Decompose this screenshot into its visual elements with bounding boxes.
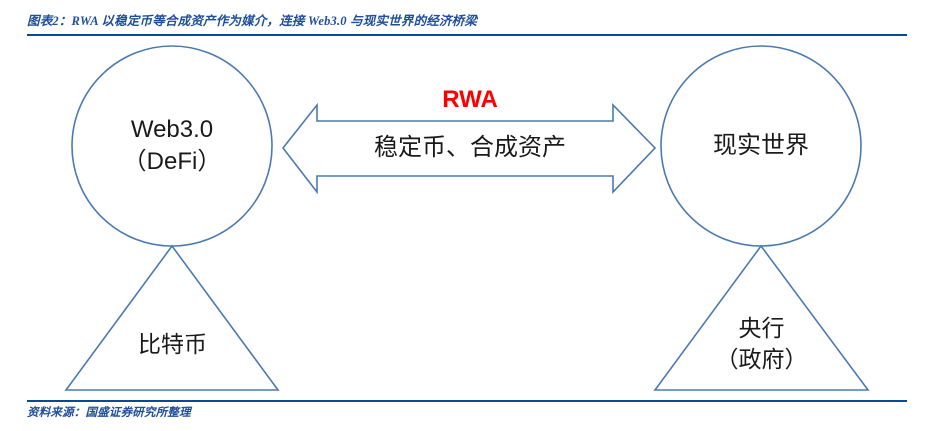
left-circle-shape: [72, 46, 272, 246]
bidirectional-arrow-shape: [283, 105, 655, 192]
left-triangle-shape: [66, 246, 278, 390]
footer-divider: [27, 400, 907, 402]
right-circle-shape: [661, 46, 861, 246]
right-triangle-shape: [655, 246, 868, 390]
figure-source: 资料来源：国盛证券研究所整理: [27, 406, 191, 421]
figure-page: 图表2：RWA 以稳定币等合成资产作为媒介，连接 Web3.0 与现实世界的经济…: [0, 0, 944, 431]
diagram-canvas: [0, 0, 944, 431]
